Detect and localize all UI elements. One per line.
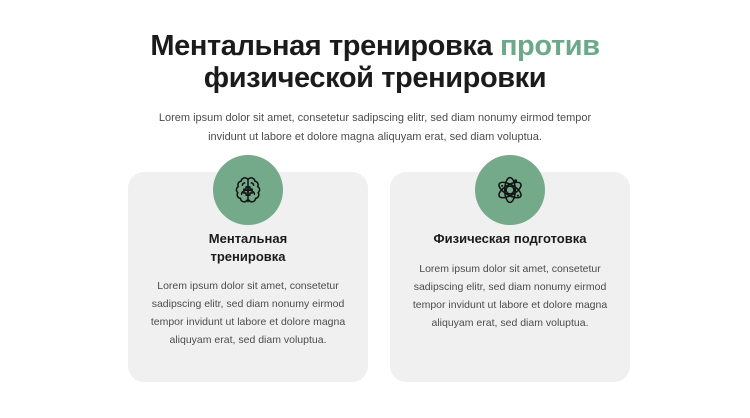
page-title-line2: физической тренировки bbox=[204, 62, 546, 94]
feature-card-text: Lorem ipsum dolor sit amet, consetetur s… bbox=[412, 260, 608, 332]
brain-icon bbox=[213, 155, 283, 225]
page-subtitle: Lorem ipsum dolor sit amet, consetetur s… bbox=[140, 109, 610, 148]
feature-card-list: Ментальная тренировка Lorem ipsum dolor … bbox=[128, 172, 630, 382]
atom-icon bbox=[475, 155, 545, 225]
hero-section: Ментальная тренировка противфизической т… bbox=[0, 30, 750, 147]
feature-card-mental[interactable]: Ментальная тренировка Lorem ipsum dolor … bbox=[128, 172, 368, 382]
feature-card-title: Физическая подготовка bbox=[412, 230, 608, 248]
page-title-accent: против bbox=[500, 30, 600, 62]
feature-card-title: Ментальная тренировка bbox=[150, 230, 346, 265]
page-title-main: Ментальная тренировка bbox=[150, 30, 500, 62]
page-root: Ментальная тренировка противфизической т… bbox=[0, 0, 750, 418]
feature-card-text: Lorem ipsum dolor sit amet, consetetur s… bbox=[150, 277, 346, 349]
feature-card-physical[interactable]: Физическая подготовка Lorem ipsum dolor … bbox=[390, 172, 630, 382]
page-title: Ментальная тренировка противфизической т… bbox=[0, 30, 750, 95]
